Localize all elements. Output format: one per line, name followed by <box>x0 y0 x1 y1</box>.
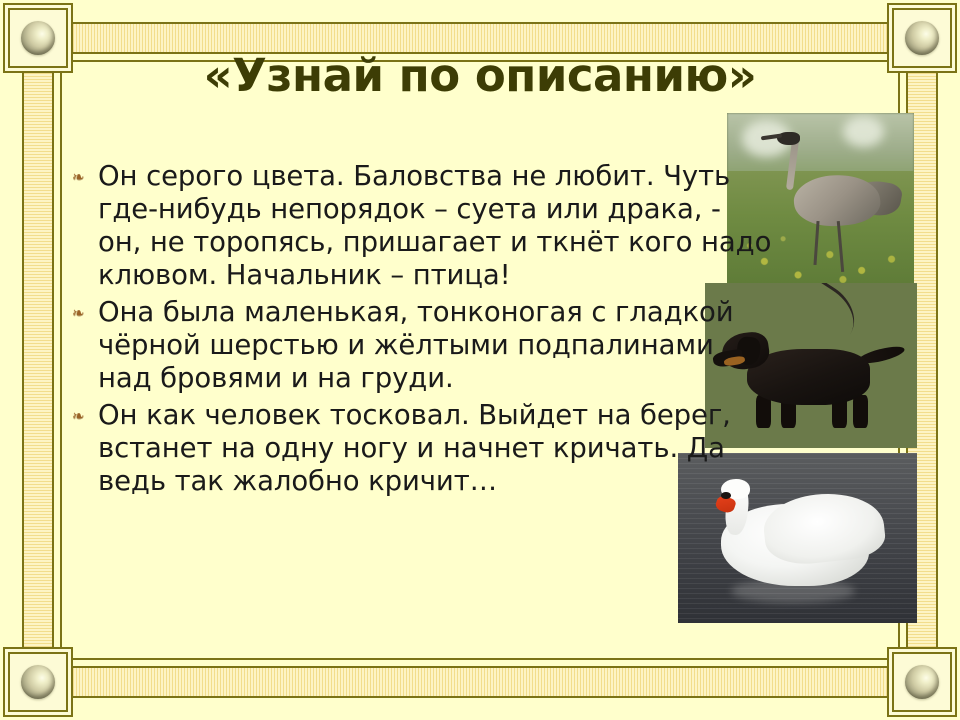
bullet-list: ❧ Он серого цвета. Баловства не любит. Ч… <box>72 160 772 502</box>
presentation-slide: «Узнай по описанию» <box>0 0 960 720</box>
bead-icon <box>21 21 55 55</box>
corner-bottom-left <box>8 652 68 712</box>
frame-inner-rule-bottom <box>60 658 900 660</box>
frame-band-bottom <box>28 666 932 698</box>
list-item: ❧ Он серого цвета. Баловства не любит. Ч… <box>72 160 772 292</box>
list-item: ❧ Он как человек тосковал. Выйдет на бер… <box>72 399 772 498</box>
corner-top-left <box>8 8 68 68</box>
list-item-text: Он серого цвета. Баловства не любит. Чут… <box>98 160 772 292</box>
ornament-bullet-icon: ❧ <box>72 160 98 185</box>
bead-icon <box>21 665 55 699</box>
list-item-text: Он как человек тосковал. Выйдет на берег… <box>98 399 772 498</box>
corner-bottom-right <box>892 652 952 712</box>
list-item-text: Она была маленькая, тонконогая с гладкой… <box>98 296 772 395</box>
ornament-bullet-icon: ❧ <box>72 399 98 424</box>
bead-icon <box>905 21 939 55</box>
corner-top-right <box>892 8 952 68</box>
slide-title: «Узнай по описанию» <box>70 52 890 99</box>
list-item: ❧ Она была маленькая, тонконогая с гладк… <box>72 296 772 395</box>
frame-band-left <box>22 28 54 692</box>
bead-icon <box>905 665 939 699</box>
ornament-bullet-icon: ❧ <box>72 296 98 321</box>
frame-inner-rule-left <box>60 60 62 660</box>
